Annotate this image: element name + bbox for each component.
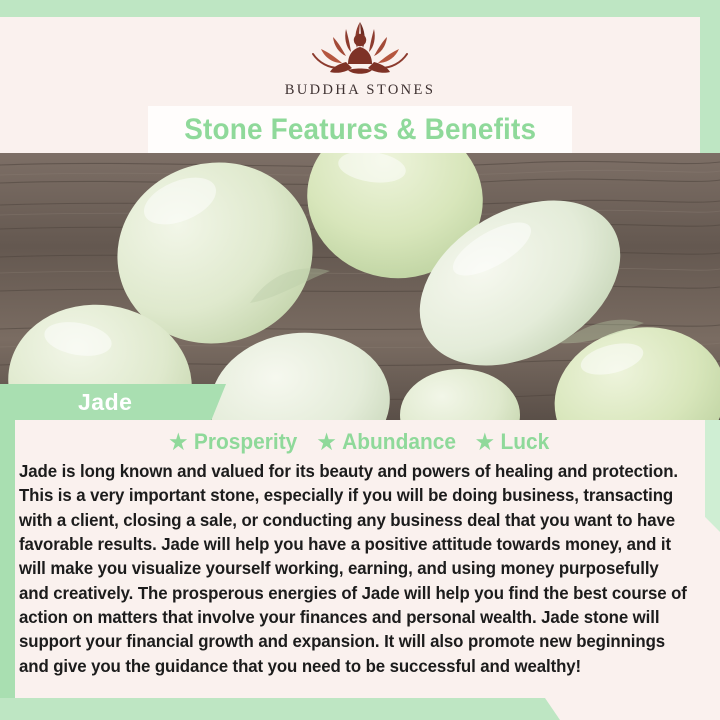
stone-photo-illustration [0, 153, 720, 420]
keyword-list: ★ Prosperity ★ Abundance ★ Luck [19, 426, 698, 458]
stone-info-card: BUDDHA STONES Stone Features & Benefits [0, 0, 720, 720]
keyword-label: Luck [501, 429, 550, 455]
star-icon: ★ [169, 432, 187, 453]
brand-wordmark: BUDDHA STONES [285, 82, 436, 99]
keyword-label: Abundance [343, 429, 457, 455]
page-title: Stone Features & Benefits [184, 113, 536, 147]
brand-logo: BUDDHA STONES [0, 18, 720, 108]
lotus-meditation-icon [308, 18, 412, 80]
keyword-prosperity: ★ Prosperity [169, 429, 297, 455]
stone-photo [0, 153, 720, 420]
page-title-band: Stone Features & Benefits [148, 106, 572, 153]
stone-name-banner: Jade [0, 384, 226, 421]
star-icon: ★ [476, 432, 494, 453]
keyword-label: Prosperity [194, 429, 297, 455]
decorative-frame-bottom [0, 698, 560, 720]
stone-description: Jade is long known and valued for its be… [19, 460, 688, 679]
keyword-abundance: ★ Abundance [318, 429, 456, 455]
keyword-luck: ★ Luck [476, 429, 549, 455]
decorative-frame-top [0, 0, 720, 17]
stone-name: Jade [78, 389, 132, 416]
content-card: ★ Prosperity ★ Abundance ★ Luck Jade is … [15, 420, 705, 698]
star-icon: ★ [318, 432, 336, 453]
